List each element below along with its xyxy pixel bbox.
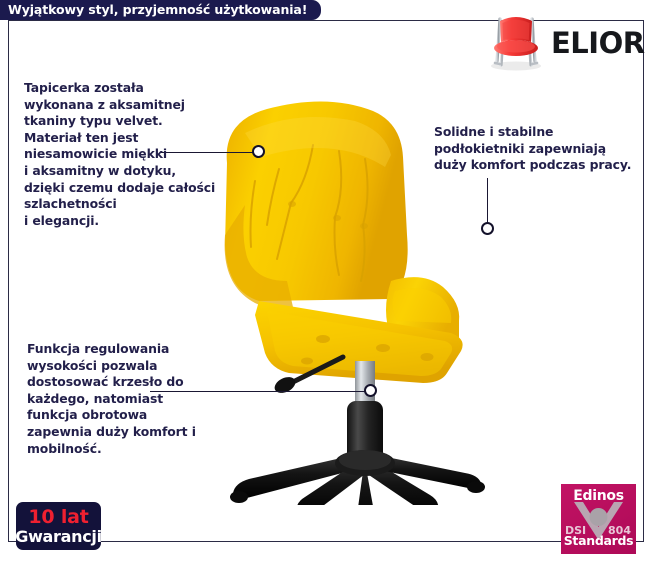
callout-text-height: Funkcja regulowania wysokości pozwala do… — [27, 341, 222, 457]
callout-dot-height — [364, 384, 377, 397]
warranty-label: Gwarancji — [15, 529, 102, 545]
brand-name: ELIOR — [551, 29, 645, 58]
header-banner: Wyjątkowy styl, przyjemność użytkowania! — [0, 0, 321, 20]
warranty-badge: 10 lat Gwarancji — [16, 502, 101, 550]
leader-line-armrests — [487, 178, 488, 223]
callout-dot-armrests — [481, 222, 494, 235]
brand-logo: ELIOR — [487, 12, 637, 74]
callout-text-upholstery: Tapicerka została wykonana z aksamitnej … — [24, 80, 224, 229]
infographic-page: Wyjątkowy styl, przyjemność użytkowania! — [0, 0, 650, 564]
red-chair-icon — [487, 13, 545, 73]
callout-text-armrests: Solidne i stabilne podłokietniki zapewni… — [434, 124, 639, 174]
callout-dot-upholstery — [252, 145, 265, 158]
edinos-standards-badge: Edinos DSI 804 Standards — [561, 484, 636, 554]
warranty-years: 10 lat — [28, 508, 88, 527]
edinos-standards-label: Standards — [561, 533, 636, 548]
